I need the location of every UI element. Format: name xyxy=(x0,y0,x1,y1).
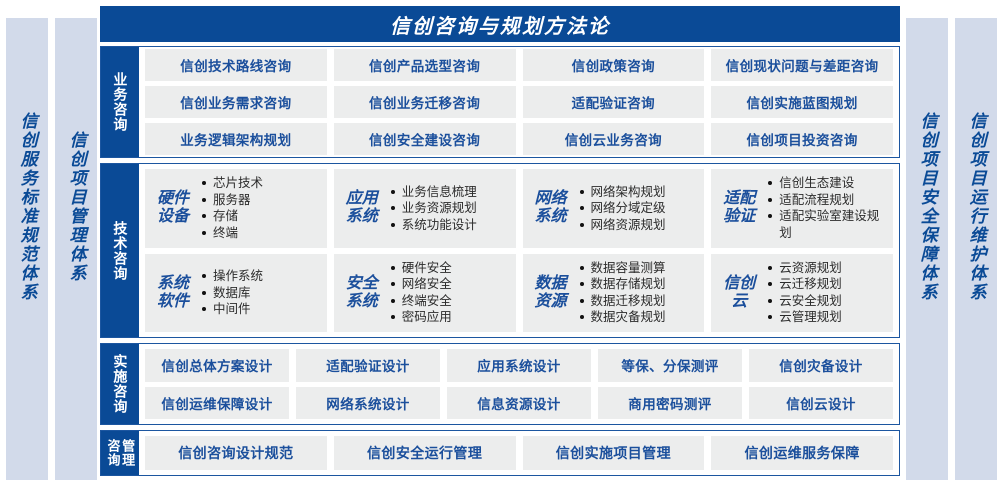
list-item[interactable]: 信创技术路线咨询 xyxy=(145,49,327,81)
tech-card-list: 业务信息梳理 业务资源规划 系统功能设计 xyxy=(390,184,510,234)
pillar-project-management: 信创项目管理体系 xyxy=(55,18,97,480)
table-row: 信创业务需求咨询 信创业务迁移咨询 适配验证咨询 信创实施蓝图规划 xyxy=(145,86,893,118)
table-row: 信创运维保障设计 网络系统设计 信息资源设计 商用密码测评 信创云设计 xyxy=(145,387,893,420)
tech-card-title: 适配验证 xyxy=(717,190,761,226)
tech-card-list-item: 网络分域定级 xyxy=(579,200,699,217)
tech-card-list: 数据容量测算 数据存储规划 数据迁移规划 数据灾备规划 xyxy=(579,260,699,326)
pillar-project-security: 信创项目安全保障体系 xyxy=(906,18,948,480)
tech-card-list: 云资源规划 云迁移规划 云安全规划 云管理规划 xyxy=(767,260,887,326)
tech-card-adaptation[interactable]: 适配验证 信创生态建设 适配流程规划 适配实验室建设规划 xyxy=(711,169,893,248)
tech-card-list-item: 数据灾备规划 xyxy=(579,309,699,326)
tech-card-list-item: 网络安全 xyxy=(390,276,510,293)
tech-card-list-item: 适配流程规划 xyxy=(767,192,887,209)
tech-card-security[interactable]: 安全系统 硬件安全 网络安全 终端安全 密码应用 xyxy=(334,254,516,333)
list-item[interactable]: 信创政策咨询 xyxy=(523,49,705,81)
table-row: 信创总体方案设计 适配验证设计 应用系统设计 等保、分保测评 信创灾备设计 xyxy=(145,349,893,382)
tech-card-list: 网络架构规划 网络分域定级 网络资源规划 xyxy=(579,184,699,234)
section-business-consulting-body: 信创技术路线咨询 信创产品选型咨询 信创政策咨询 信创现状问题与差距咨询 信创业… xyxy=(139,47,899,157)
list-item[interactable]: 等保、分保测评 xyxy=(598,349,742,382)
tech-card-list-item: 服务器 xyxy=(201,192,321,209)
table-row: 硬件设备 芯片技术 服务器 存储 终端 应用系统 业务信息梳理 业务资源规划 xyxy=(145,169,893,248)
section-technical-consulting-label-text: 技术咨询 xyxy=(113,221,128,281)
pillar-project-management-label: 信创项目管理体系 xyxy=(67,131,84,283)
section-consulting-management: 咨询 管理 信创咨询设计规范 信创安全运行管理 信创实施项目管理 信创运维服务保… xyxy=(100,430,900,476)
center-column: 信创咨询与规划方法论 业务咨询 信创技术路线咨询 信创产品选型咨询 信创政策咨询… xyxy=(100,6,900,490)
section-consulting-management-body: 信创咨询设计规范 信创安全运行管理 信创实施项目管理 信创运维服务保障 xyxy=(139,431,899,475)
tech-card-list-item: 数据库 xyxy=(201,285,321,302)
list-item[interactable]: 适配验证咨询 xyxy=(523,86,705,118)
section-technical-consulting-label: 技术咨询 xyxy=(101,164,139,337)
tech-card-list-item: 网络资源规划 xyxy=(579,217,699,234)
section-implementation-consulting-label: 实施咨询 xyxy=(101,344,139,424)
list-item[interactable]: 信创运维保障设计 xyxy=(145,387,289,420)
tech-card-list-item: 云安全规划 xyxy=(767,293,887,310)
table-row: 业务逻辑架构规划 信创安全建设咨询 信创云业务咨询 信创项目投资咨询 xyxy=(145,123,893,155)
tech-card-list-item: 数据容量测算 xyxy=(579,260,699,277)
list-item[interactable]: 适配验证设计 xyxy=(296,349,440,382)
tech-card-list: 硬件安全 网络安全 终端安全 密码应用 xyxy=(390,260,510,326)
list-item[interactable]: 信创实施项目管理 xyxy=(523,436,705,470)
tech-card-title: 硬件设备 xyxy=(151,190,195,226)
tech-card-list-item: 数据迁移规划 xyxy=(579,293,699,310)
list-item[interactable]: 信创实施蓝图规划 xyxy=(711,86,893,118)
tech-card-list-item: 网络架构规划 xyxy=(579,184,699,201)
pillar-project-operation: 信创项目运行维护体系 xyxy=(955,18,997,480)
tech-card-title: 数据资源 xyxy=(529,275,573,311)
list-item[interactable]: 信创云业务咨询 xyxy=(523,123,705,155)
tech-card-title: 应用系统 xyxy=(340,190,384,226)
section-implementation-consulting-body: 信创总体方案设计 适配验证设计 应用系统设计 等保、分保测评 信创灾备设计 信创… xyxy=(139,344,899,424)
tech-card-list-item: 适配实验室建设规划 xyxy=(767,208,887,241)
tech-card-list-item: 操作系统 xyxy=(201,268,321,285)
tech-card-list-item: 业务资源规划 xyxy=(390,200,510,217)
pillar-project-operation-label: 信创项目运行维护体系 xyxy=(967,112,984,302)
tech-card-network[interactable]: 网络系统 网络架构规划 网络分域定级 网络资源规划 xyxy=(523,169,705,248)
tech-card-list-item: 硬件安全 xyxy=(390,260,510,277)
page-title: 信创咨询与规划方法论 xyxy=(100,6,900,42)
section-business-consulting-label-text: 业务咨询 xyxy=(113,72,128,132)
list-item[interactable]: 网络系统设计 xyxy=(296,387,440,420)
tech-card-list-item: 密码应用 xyxy=(390,309,510,326)
tech-card-list: 芯片技术 服务器 存储 终端 xyxy=(201,175,321,241)
list-item[interactable]: 信创总体方案设计 xyxy=(145,349,289,382)
tech-card-cloud[interactable]: 信创云 云资源规划 云迁移规划 云安全规划 云管理规划 xyxy=(711,254,893,333)
list-item[interactable]: 信创现状问题与差距咨询 xyxy=(711,49,893,81)
tech-card-list-item: 芯片技术 xyxy=(201,175,321,192)
tech-card-list-item: 系统功能设计 xyxy=(390,217,510,234)
section-business-consulting-label: 业务咨询 xyxy=(101,47,139,157)
tech-card-hardware[interactable]: 硬件设备 芯片技术 服务器 存储 终端 xyxy=(145,169,327,248)
tech-card-data-resource[interactable]: 数据资源 数据容量测算 数据存储规划 数据迁移规划 数据灾备规划 xyxy=(523,254,705,333)
list-item[interactable]: 信创运维服务保障 xyxy=(711,436,893,470)
list-item[interactable]: 信息资源设计 xyxy=(447,387,591,420)
tech-card-title: 安全系统 xyxy=(340,275,384,311)
section-technical-consulting: 技术咨询 硬件设备 芯片技术 服务器 存储 终端 应用系统 xyxy=(100,163,900,338)
table-row: 系统软件 操作系统 数据库 中间件 安全系统 硬件安全 网络安全 终端安全 xyxy=(145,254,893,333)
tech-card-list: 信创生态建设 适配流程规划 适配实验室建设规划 xyxy=(767,175,887,241)
tech-card-list-item: 数据存储规划 xyxy=(579,276,699,293)
list-item[interactable]: 信创产品选型咨询 xyxy=(334,49,516,81)
tech-card-list-item: 云管理规划 xyxy=(767,309,887,326)
list-item[interactable]: 信创业务迁移咨询 xyxy=(334,86,516,118)
list-item[interactable]: 商用密码测评 xyxy=(598,387,742,420)
pillar-project-security-label: 信创项目安全保障体系 xyxy=(918,112,935,302)
section-business-consulting: 业务咨询 信创技术路线咨询 信创产品选型咨询 信创政策咨询 信创现状问题与差距咨… xyxy=(100,46,900,158)
list-item[interactable]: 信创咨询设计规范 xyxy=(145,436,327,470)
tech-card-list-item: 终端安全 xyxy=(390,293,510,310)
diagram-canvas: 信创服务标准规范体系 信创项目管理体系 信创项目安全保障体系 信创项目运行维护体… xyxy=(0,0,1000,496)
tech-card-list: 操作系统 数据库 中间件 xyxy=(201,268,321,318)
list-item[interactable]: 应用系统设计 xyxy=(447,349,591,382)
list-item[interactable]: 信创安全运行管理 xyxy=(334,436,516,470)
tech-card-list-item: 存储 xyxy=(201,208,321,225)
tech-card-list-item: 信创生态建设 xyxy=(767,175,887,192)
section-implementation-consulting-label-text: 实施咨询 xyxy=(113,354,128,414)
tech-card-title: 信创云 xyxy=(717,275,761,311)
list-item[interactable]: 信创安全建设咨询 xyxy=(334,123,516,155)
list-item[interactable]: 信创项目投资咨询 xyxy=(711,123,893,155)
tech-card-list-item: 中间件 xyxy=(201,301,321,318)
section-implementation-consulting: 实施咨询 信创总体方案设计 适配验证设计 应用系统设计 等保、分保测评 信创灾备… xyxy=(100,343,900,425)
list-item[interactable]: 业务逻辑架构规划 xyxy=(145,123,327,155)
section-consulting-management-label: 咨询 管理 xyxy=(101,431,139,475)
pillar-service-standard-label: 信创服务标准规范体系 xyxy=(18,112,35,302)
tech-card-list-item: 业务信息梳理 xyxy=(390,184,510,201)
tech-card-list-item: 云资源规划 xyxy=(767,260,887,277)
section-technical-consulting-body: 硬件设备 芯片技术 服务器 存储 终端 应用系统 业务信息梳理 业务资源规划 xyxy=(139,164,899,337)
tech-card-application[interactable]: 应用系统 业务信息梳理 业务资源规划 系统功能设计 xyxy=(334,169,516,248)
table-row: 信创技术路线咨询 信创产品选型咨询 信创政策咨询 信创现状问题与差距咨询 xyxy=(145,49,893,81)
pillar-service-standard: 信创服务标准规范体系 xyxy=(6,18,48,480)
list-item[interactable]: 信创云设计 xyxy=(749,387,893,420)
table-row: 信创咨询设计规范 信创安全运行管理 信创实施项目管理 信创运维服务保障 xyxy=(145,436,893,470)
section-consulting-management-label-text-right: 管理 xyxy=(121,439,135,467)
list-item[interactable]: 信创灾备设计 xyxy=(749,349,893,382)
tech-card-title: 系统软件 xyxy=(151,275,195,311)
page-title-text: 信创咨询与规划方法论 xyxy=(390,10,610,39)
section-consulting-management-label-text-left: 咨询 xyxy=(106,439,120,467)
tech-card-system-software[interactable]: 系统软件 操作系统 数据库 中间件 xyxy=(145,254,327,333)
list-item[interactable]: 信创业务需求咨询 xyxy=(145,86,327,118)
tech-card-list-item: 云迁移规划 xyxy=(767,276,887,293)
tech-card-title: 网络系统 xyxy=(529,190,573,226)
tech-card-list-item: 终端 xyxy=(201,225,321,242)
